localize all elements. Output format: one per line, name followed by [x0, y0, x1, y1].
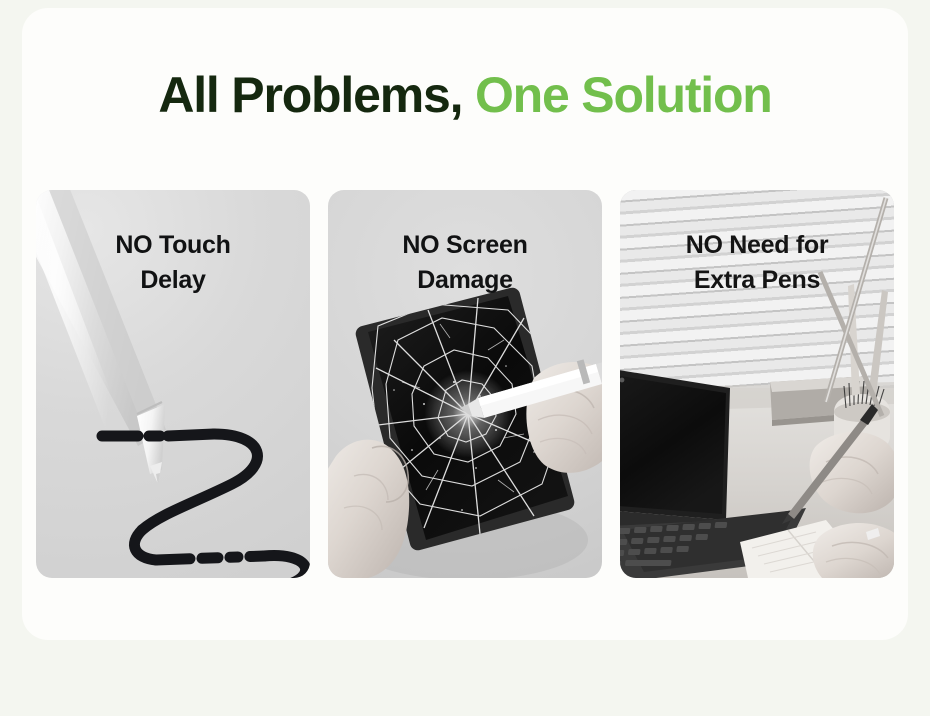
content-panel: All Problems, One Solution — [22, 8, 908, 640]
card-label-no-need-for-extra-pens: NO Need forExtra Pens — [620, 228, 894, 297]
page-title-part2: One Solution — [475, 67, 772, 123]
feature-card-row: NO TouchDelay — [36, 190, 894, 578]
card-label-line1: NO Screen — [402, 231, 527, 259]
card-label-line2: Delay — [140, 266, 205, 294]
feature-card-no-need-for-extra-pens[interactable]: NO Need forExtra Pens — [620, 190, 894, 578]
promo-page: All Problems, One Solution — [0, 0, 930, 716]
card-label-no-screen-damage: NO ScreenDamage — [328, 228, 602, 297]
page-title: All Problems, One Solution — [22, 68, 908, 123]
card-label-line2: Extra Pens — [694, 266, 820, 294]
card-label-no-touch-delay: NO TouchDelay — [36, 228, 310, 297]
page-title-part1: All Problems, — [158, 67, 462, 123]
card-label-line1: NO Need for — [686, 231, 829, 259]
feature-card-no-screen-damage[interactable]: NO ScreenDamage — [328, 190, 602, 578]
card-label-line1: NO Touch — [115, 231, 230, 259]
feature-card-no-touch-delay[interactable]: NO TouchDelay — [36, 190, 310, 578]
broken-stroke-illustration — [64, 422, 310, 578]
card-label-line2: Damage — [417, 266, 512, 294]
